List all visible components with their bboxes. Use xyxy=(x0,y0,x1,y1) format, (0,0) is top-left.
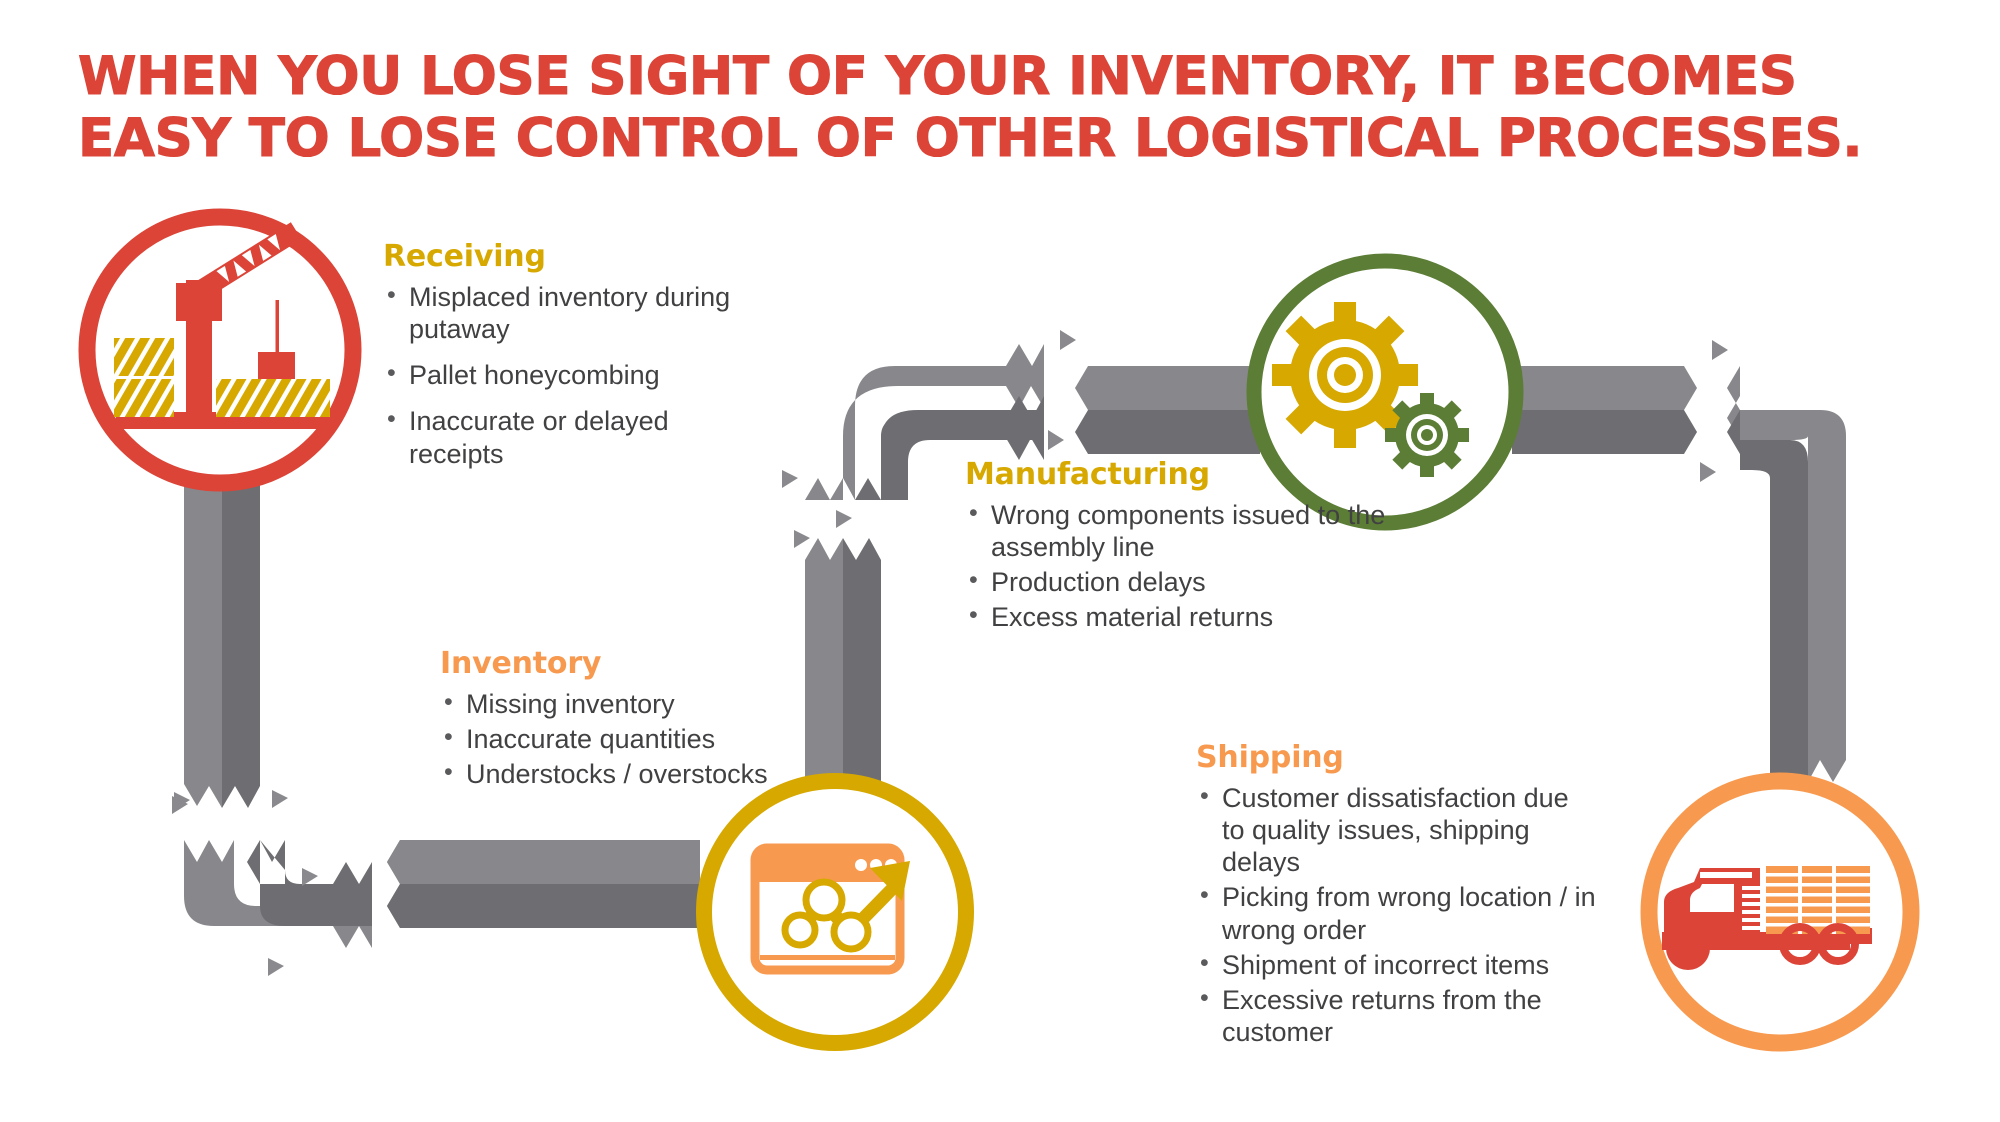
list-item: Inaccurate quantities xyxy=(440,723,800,755)
manufacturing-text-block: Manufacturing Wrong components issued to… xyxy=(965,458,1415,637)
node-receiving[interactable] xyxy=(87,217,353,483)
shipping-text-block: Shipping Customer dissatisfaction due to… xyxy=(1196,741,1596,1051)
list-item: Production delays xyxy=(965,566,1415,598)
list-item: Pallet honeycombing xyxy=(383,359,743,391)
pipe-segment-receiving-down xyxy=(184,470,260,808)
pipe-segment-to-inventory xyxy=(387,840,700,928)
node-inventory[interactable] xyxy=(704,781,966,1043)
pipe-segment-to-manufacturing xyxy=(1075,366,1260,454)
list-item: Excessive returns from the customer xyxy=(1196,984,1596,1048)
shipping-bullet-list: Customer dissatisfaction due to quality … xyxy=(1196,782,1596,1048)
pipe-debris-right-upper xyxy=(1700,340,1728,482)
inventory-bullet-list: Missing inventory Inaccurate quantities … xyxy=(440,688,800,790)
receiving-bullet-list: Misplaced inventory during putaway Palle… xyxy=(383,281,743,470)
pipe-segment-right-elbow xyxy=(1727,366,1846,782)
list-item: Customer dissatisfaction due to quality … xyxy=(1196,782,1596,878)
list-item: Understocks / overstocks xyxy=(440,758,800,790)
infographic-canvas: When you lose sight of your inventory, i… xyxy=(0,0,2000,1122)
pipe-segment-manufacturing-right xyxy=(1512,366,1697,454)
inventory-heading: Inventory xyxy=(440,647,800,680)
inventory-text-block: Inventory Missing inventory Inaccurate q… xyxy=(440,647,800,793)
list-item: Missing inventory xyxy=(440,688,800,720)
pipe-segment-left-elbow xyxy=(184,840,372,948)
list-item: Inaccurate or delayed receipts xyxy=(383,405,743,469)
node-shipping[interactable] xyxy=(1649,781,1911,1043)
list-item: Misplaced inventory during putaway xyxy=(383,281,743,345)
receiving-text-block: Receiving Misplaced inventory during put… xyxy=(383,240,743,484)
receiving-heading: Receiving xyxy=(383,240,743,273)
list-item: Wrong components issued to the assembly … xyxy=(965,499,1415,563)
list-item: Picking from wrong location / in wrong o… xyxy=(1196,881,1596,945)
manufacturing-bullet-list: Wrong components issued to the assembly … xyxy=(965,499,1415,634)
list-item: Shipment of incorrect items xyxy=(1196,949,1596,981)
shipping-heading: Shipping xyxy=(1196,741,1596,774)
manufacturing-heading: Manufacturing xyxy=(965,458,1415,491)
list-item: Excess material returns xyxy=(965,601,1415,633)
